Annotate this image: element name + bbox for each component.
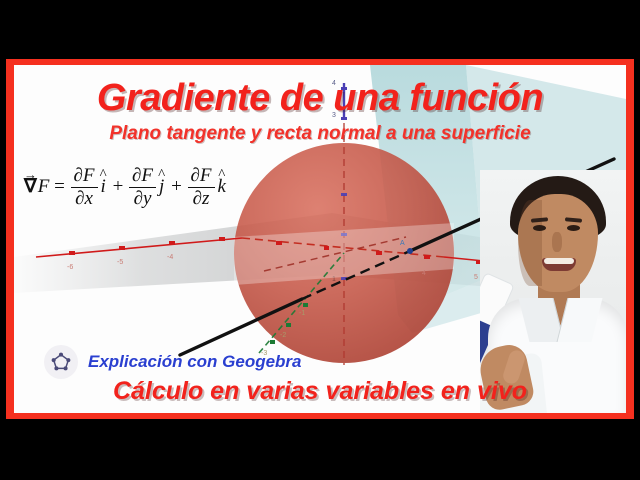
geogebra-logo-icon: [44, 345, 78, 379]
page-title: Gradiente de una función: [14, 77, 626, 120]
svg-text:A: A: [400, 240, 405, 247]
unit-vector-i: ^i: [99, 176, 108, 198]
term-dfdy: ∂F ∂y: [129, 165, 156, 210]
svg-text:-6: -6: [67, 264, 73, 271]
svg-text:-2: -2: [280, 332, 286, 339]
tagline: Cálculo en varias variables en vivo: [14, 377, 626, 406]
svg-text:-5: -5: [117, 259, 123, 266]
geogebra-label: Explicación con Geogebra: [88, 352, 302, 372]
geogebra-credit: Explicación con Geogebra: [44, 345, 302, 379]
unit-vector-k: ^k: [216, 176, 228, 198]
nabla-symbol: →∇: [24, 175, 38, 198]
thumbnail-canvas: 4 3 1: [14, 65, 626, 413]
gradient-formula: →∇F = ∂F ∂x ^i + ∂F ∂y ^j + ∂F ∂z ^k: [24, 165, 228, 210]
vector-arrow-accent: →: [24, 167, 37, 183]
subtitle: Plano tangente y recta normal a una supe…: [14, 123, 626, 145]
red-border-frame: 4 3 1: [6, 59, 634, 419]
term-dfdz: ∂F ∂z: [188, 165, 215, 210]
svg-text:-1: -1: [299, 310, 305, 317]
svg-text:5: 5: [474, 274, 478, 281]
term-dfdx: ∂F ∂x: [71, 165, 98, 210]
unit-vector-j: ^j: [157, 176, 166, 198]
svg-text:4: 4: [422, 270, 426, 277]
video-thumbnail: 4 3 1: [0, 0, 640, 480]
svg-text:-4: -4: [167, 254, 173, 261]
